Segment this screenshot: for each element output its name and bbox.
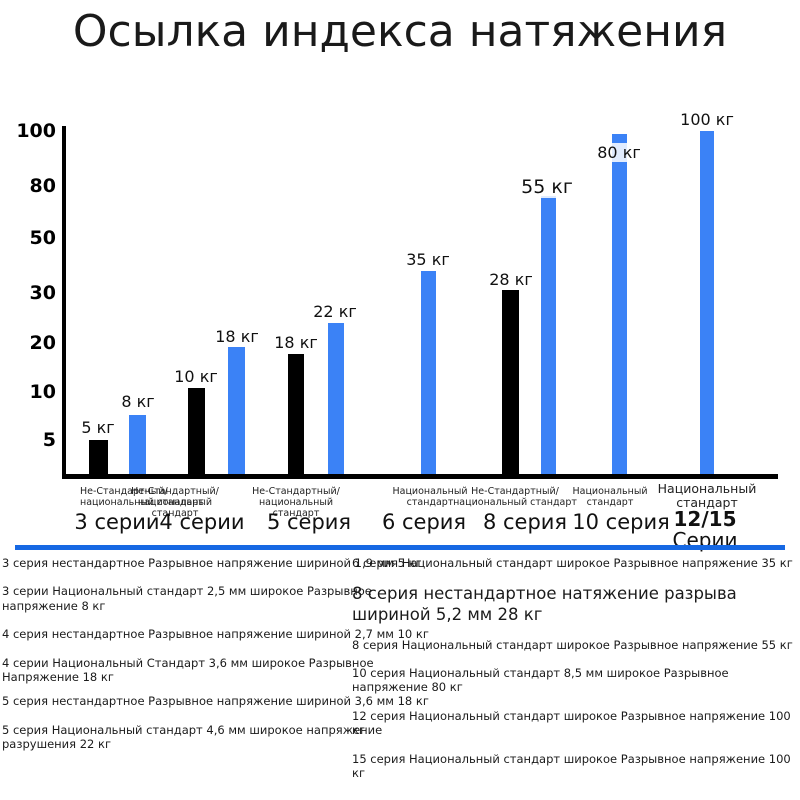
bar-4-nonstandard[interactable] xyxy=(188,388,205,474)
group-sublabel-10: Национальный стандарт xyxy=(560,487,660,509)
group-label-5-series: 5 серия xyxy=(267,510,351,534)
bar-4-national[interactable] xyxy=(228,347,245,474)
caption-column-right: 6 серия Национальный стандарт широкое Ра… xyxy=(352,556,800,794)
bar-label-100kg: 100 кг xyxy=(679,110,735,129)
caption-item: 8 серия нестандартное натяжение разрыва … xyxy=(352,584,800,625)
caption-item: 10 серия Национальный стандарт 8,5 мм ши… xyxy=(352,666,800,695)
group-label-4-series: 4 серии xyxy=(159,510,244,534)
caption-item: 8 серия Национальный стандарт широкое Ра… xyxy=(352,638,800,652)
caption-item: 15 серия Национальный стандарт широкое Р… xyxy=(352,752,800,781)
group-label-6-series: 6 серия xyxy=(382,510,466,534)
section-divider xyxy=(15,545,785,550)
bar-label-18kg-a: 18 кг xyxy=(214,327,260,346)
bar-label-10kg: 10 кг xyxy=(173,367,219,386)
bar-label-8kg: 8 кг xyxy=(120,392,155,411)
bar-3-nonstandard[interactable] xyxy=(89,440,108,474)
group-label-8-series: 8 серия xyxy=(483,510,567,534)
caption-item: 6 серия Национальный стандарт широкое Ра… xyxy=(352,556,800,570)
group-label-3-series: 3 серии xyxy=(74,510,159,534)
group-label-10-series: 10 серия xyxy=(572,510,669,534)
caption-item: 12 серия Национальный стандарт широкое Р… xyxy=(352,709,800,738)
bar-1215-national[interactable] xyxy=(700,131,714,474)
bar-10-national[interactable] xyxy=(612,134,627,474)
x-axis-line xyxy=(62,474,778,479)
bar-chart: 100 80 50 30 20 10 5 5 кг 8 кг 10 кг 18 … xyxy=(0,0,800,545)
bar-label-18kg-b: 18 кг xyxy=(273,333,319,352)
bar-5-nonstandard[interactable] xyxy=(288,354,304,474)
bar-6-national[interactable] xyxy=(421,271,436,474)
bars-layer: 5 кг 8 кг 10 кг 18 кг 18 кг 22 кг 35 кг … xyxy=(0,0,800,474)
bar-8-nonstandard[interactable] xyxy=(502,290,519,474)
bar-5-national[interactable] xyxy=(328,323,344,474)
bar-label-35kg: 35 кг xyxy=(405,250,451,269)
bar-label-22kg: 22 кг xyxy=(312,302,358,321)
bar-label-28kg: 28 кг xyxy=(488,270,534,289)
bar-label-55kg: 55 кг xyxy=(520,176,574,198)
bar-3-national[interactable] xyxy=(129,415,146,474)
bar-8-national[interactable] xyxy=(541,196,556,474)
bar-label-80kg: 80 кг xyxy=(596,143,642,162)
bar-label-5kg: 5 кг xyxy=(80,418,115,437)
